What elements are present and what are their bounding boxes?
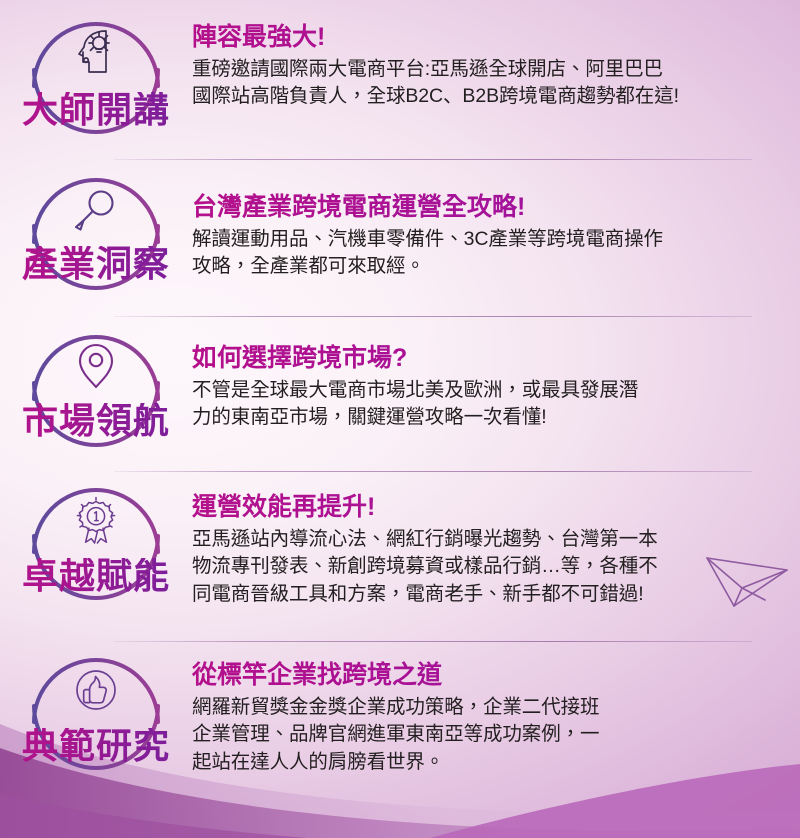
poster-canvas: 大師開講 陣容最強大! 重磅邀請國際兩大電商平台:亞馬遜全球開店、阿里巴巴 國際… [0, 0, 800, 838]
body-line: 不管是全球最大電商市場北美及歐洲，或最具發展潛 [192, 377, 782, 405]
section-row: 產業洞察 台灣產業跨境電商運營全攻略! 解讀運動用品、汽機車零備件、3C產業等跨… [0, 160, 800, 317]
section-copy: 台灣產業跨境電商運營全攻略! 解讀運動用品、汽機車零備件、3C產業等跨境電商操作… [192, 160, 800, 281]
section-badge: 典範研究 [0, 642, 192, 800]
body-line: 攻略，全產業都可來取經。 [192, 253, 782, 281]
body-line: 物流專刊發表、新創跨境募資或樣品行銷…等，各種不 [192, 553, 782, 581]
magnifier-icon [70, 186, 122, 236]
section-label: 大師開講 [22, 92, 170, 128]
section-body: 不管是全球最大電商市場北美及歐洲，或最具發展潛 力的東南亞市場，關鍵運營攻略一次… [192, 377, 782, 432]
section-body: 解讀運動用品、汽機車零備件、3C產業等跨境電商操作 攻略，全產業都可來取經。 [192, 226, 782, 281]
section-title: 運營效能再提升! [192, 492, 782, 523]
section-row: 卓越賦能 運營效能再提升! 亞馬遜站內導流心法、網紅行銷曝光趨勢、台灣第一本 物… [0, 472, 800, 642]
body-line: 同電商晉級工具和方案，電商老手、新手都不可錯過! [192, 581, 782, 609]
award-rosette-icon [68, 494, 124, 550]
section-label: 市場領航 [22, 403, 170, 439]
section-body: 重磅邀請國際兩大電商平台:亞馬遜全球開店、阿里巴巴 國際站高階負責人，全球B2C… [192, 56, 782, 111]
section-title: 陣容最強大! [192, 22, 782, 53]
section-row: 市場領航 如何選擇跨境市場? 不管是全球最大電商市場北美及歐洲，或最具發展潛 力… [0, 317, 800, 472]
section-body: 網羅新貿獎金金獎企業成功策略，企業二代接班 企業管理、品牌官網進軍東南亞等成功案… [192, 694, 782, 777]
body-line: 亞馬遜站內導流心法、網紅行銷曝光趨勢、台灣第一本 [192, 526, 782, 554]
section-copy: 陣容最強大! 重磅邀請國際兩大電商平台:亞馬遜全球開店、阿里巴巴 國際站高階負責… [192, 4, 800, 111]
section-label: 產業洞察 [22, 246, 170, 282]
section-title: 從標竿企業找跨境之道 [192, 660, 782, 691]
section-label: 典範研究 [22, 728, 170, 764]
section-copy: 運營效能再提升! 亞馬遜站內導流心法、網紅行銷曝光趨勢、台灣第一本 物流專刊發表… [192, 472, 800, 609]
section-badge: 市場領航 [0, 317, 192, 465]
head-lightbulb-icon [69, 28, 123, 78]
sections-list: 大師開講 陣容最強大! 重磅邀請國際兩大電商平台:亞馬遜全球開店、阿里巴巴 國際… [0, 0, 800, 802]
section-copy: 從標竿企業找跨境之道 網羅新貿獎金金獎企業成功策略，企業二代接班 企業管理、品牌… [192, 642, 800, 777]
thumbs-up-circle-icon [70, 664, 122, 716]
section-row: 大師開講 陣容最強大! 重磅邀請國際兩大電商平台:亞馬遜全球開店、阿里巴巴 國際… [0, 0, 800, 160]
map-pin-icon [74, 341, 118, 393]
body-line: 國際站高階負責人，全球B2C、B2B跨境電商趨勢都在這! [192, 83, 782, 111]
body-line: 企業管理、品牌官網進軍東南亞等成功案例，一 [192, 721, 782, 749]
section-copy: 如何選擇跨境市場? 不管是全球最大電商市場北美及歐洲，或最具發展潛 力的東南亞市… [192, 317, 800, 432]
section-body: 亞馬遜站內導流心法、網紅行銷曝光趨勢、台灣第一本 物流專刊發表、新創跨境募資或樣… [192, 526, 782, 609]
body-line: 重磅邀請國際兩大電商平台:亞馬遜全球開店、阿里巴巴 [192, 56, 782, 84]
section-badge: 產業洞察 [0, 160, 192, 308]
body-line: 力的東南亞市場，關鍵運營攻略一次看懂! [192, 404, 782, 432]
section-row: 典範研究 從標竿企業找跨境之道 網羅新貿獎金金獎企業成功策略，企業二代接班 企業… [0, 642, 800, 802]
body-line: 起站在達人人的肩膀看世界。 [192, 749, 782, 777]
section-title: 台灣產業跨境電商運營全攻略! [192, 192, 782, 223]
body-line: 解讀運動用品、汽機車零備件、3C產業等跨境電商操作 [192, 226, 782, 254]
section-badge: 卓越賦能 [0, 472, 192, 632]
section-title: 如何選擇跨境市場? [192, 343, 782, 374]
body-line: 網羅新貿獎金金獎企業成功策略，企業二代接班 [192, 694, 782, 722]
section-label: 卓越賦能 [22, 558, 170, 594]
section-badge: 大師開講 [0, 4, 192, 152]
